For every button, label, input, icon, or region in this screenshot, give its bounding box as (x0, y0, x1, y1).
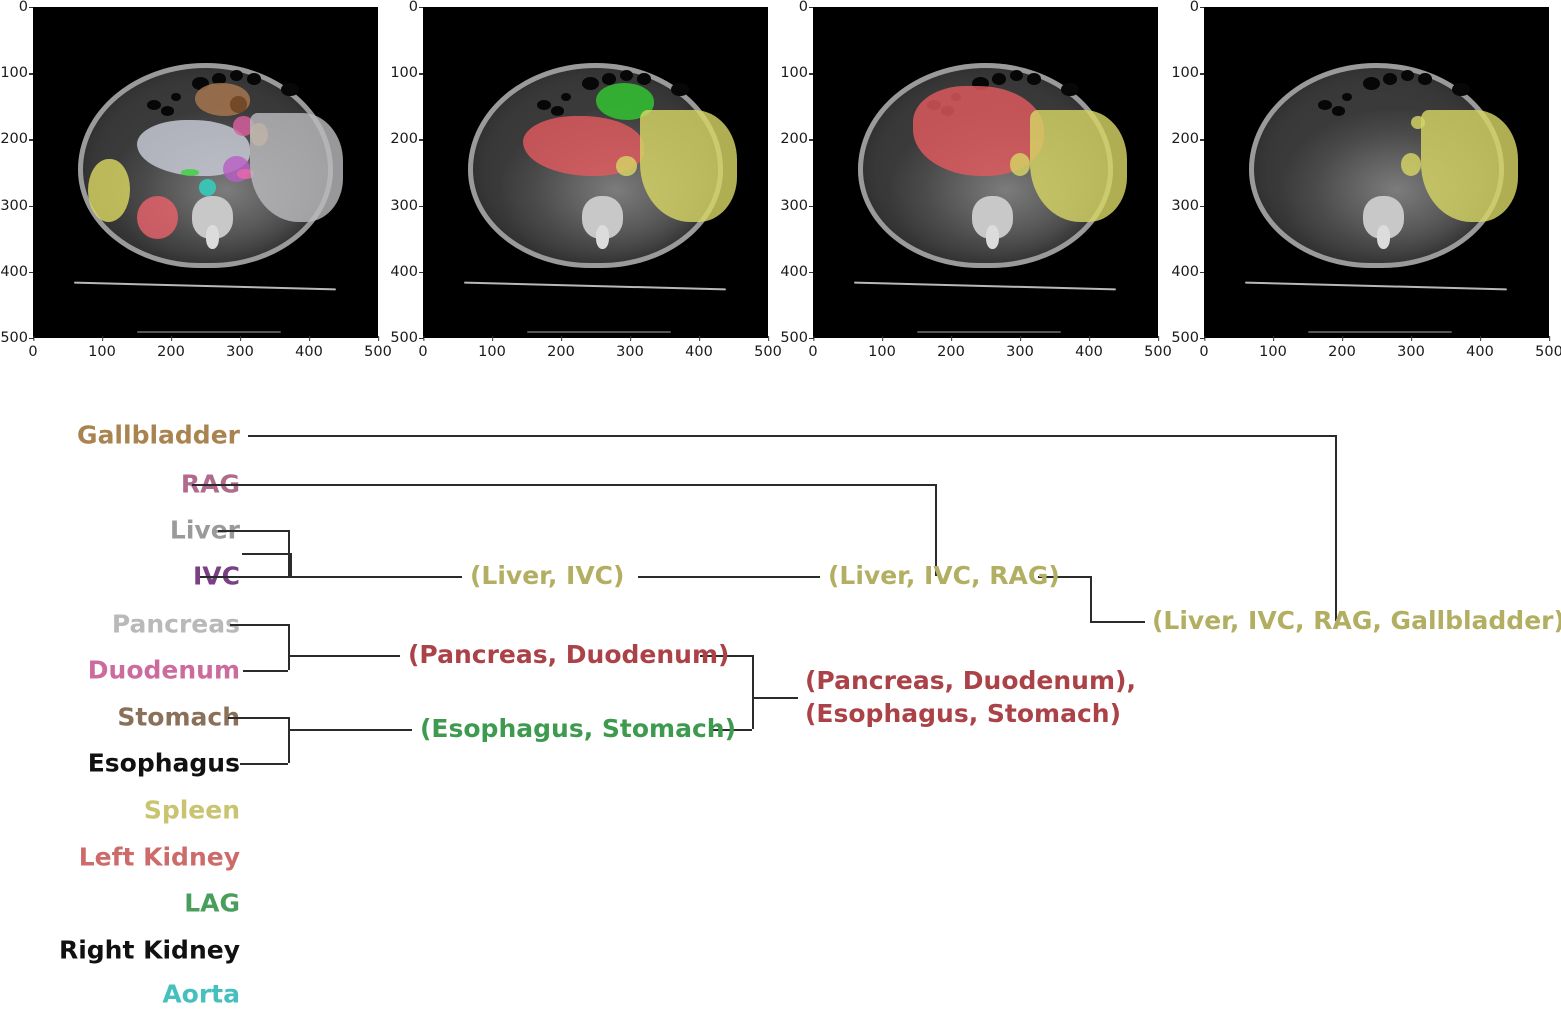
spinous-process (986, 225, 1000, 248)
group-label-g-pan-duo: (Pancreas, Duodenum) (408, 640, 729, 671)
spinous-process (206, 225, 220, 248)
conn-liverivc-to-rag (638, 576, 820, 578)
x-tick-mark (1020, 336, 1021, 341)
y-tick-label: 100 (780, 65, 808, 81)
y-tick-label: 400 (0, 264, 28, 280)
couch-line (1245, 282, 1507, 290)
overlay-group-liver-ivc (640, 110, 737, 223)
x-tick-mark (378, 336, 379, 341)
dendrogram-leaf-labels: GallbladderRAGLiverIVCPancreasDuodenumSt… (0, 400, 240, 1014)
y-tick-label: 100 (1171, 65, 1199, 81)
conn-eso-sto-vert (288, 717, 290, 763)
y-tick-label: 500 (0, 330, 28, 346)
conn-esophagus-stub (240, 763, 288, 765)
x-tick-mark (492, 336, 493, 341)
conn-to-pd-es-label (752, 697, 798, 699)
x-tick-mark (1411, 336, 1412, 341)
leaf-label-aorta: Aorta (162, 980, 240, 1009)
x-tick-mark (1158, 336, 1159, 341)
x-tick-mark (1480, 336, 1481, 341)
table-line (527, 331, 672, 333)
x-tick-label: 100 (1259, 344, 1287, 360)
group-label-g-eso-sto: (Esophagus, Stomach) (420, 714, 736, 745)
table-line (1308, 331, 1453, 333)
x-tick-mark (882, 336, 883, 341)
bowel-gas (1318, 100, 1332, 110)
y-tick-label: 300 (780, 198, 808, 214)
x-tick-mark (1549, 336, 1550, 341)
x-tick-label: 400 (685, 344, 713, 360)
x-tick-label: 200 (937, 344, 965, 360)
y-tick-label: 200 (0, 131, 28, 147)
x-tick-mark (561, 336, 562, 341)
x-tick-label: 500 (1144, 344, 1172, 360)
group-label-g-liver-ivc-rag: (Liver, IVC, RAG) (828, 561, 1060, 592)
ct-image (33, 7, 378, 338)
couch-line (854, 282, 1116, 290)
x-tick-label: 100 (868, 344, 896, 360)
leaf-label-left-kidney: Left Kidney (79, 843, 240, 872)
bowel-gas (992, 73, 1006, 85)
x-tick-mark (33, 336, 34, 341)
x-tick-mark (1342, 336, 1343, 341)
group-label-g-pd-es-line1: (Pancreas, Duodenum), (805, 666, 1136, 697)
leaf-label-spleen: Spleen (144, 796, 240, 825)
x-tick-label: 0 (418, 344, 427, 360)
y-axis: 0100200300400500 (1171, 7, 1199, 338)
bowel-gas (281, 83, 298, 96)
bowel-gas (1383, 73, 1397, 85)
conn-rag-stub (192, 484, 935, 486)
y-tick-label: 500 (390, 330, 418, 346)
bowel-gas (1418, 73, 1432, 85)
x-tick-mark (171, 336, 172, 341)
conn-gallbladder-vert (1335, 435, 1337, 621)
leaf-label-gallbladder: Gallbladder (77, 421, 240, 450)
spinous-process (596, 225, 610, 248)
panel-4-final-merge: 01002003004005000100200300400500 (1171, 0, 1561, 372)
x-tick-mark (423, 336, 424, 341)
x-tick-label: 400 (1075, 344, 1103, 360)
panel-2-first-merge: 01002003004005000100200300400500 (390, 0, 780, 372)
x-tick-label: 0 (28, 344, 37, 360)
y-tick-label: 0 (1190, 0, 1199, 15)
x-tick-mark (102, 336, 103, 341)
conn-gallbladder-stub (248, 435, 1335, 437)
x-tick-label: 300 (616, 344, 644, 360)
x-tick-label: 500 (1535, 344, 1561, 360)
leaf-label-lag: LAG (184, 889, 240, 918)
overlay-spleen (88, 159, 129, 222)
y-axis: 0100200300400500 (0, 7, 28, 338)
conn-stomach-stub (228, 717, 288, 719)
conn-liver-ivc-join (242, 553, 290, 555)
ct-image (813, 7, 1158, 338)
merge-dendrogram: GallbladderRAGLiverIVCPancreasDuodenumSt… (0, 400, 1561, 1014)
y-tick-label: 500 (780, 330, 808, 346)
overlay-liver (250, 113, 343, 222)
x-tick-label: 100 (88, 344, 116, 360)
y-tick-label: 400 (780, 264, 808, 280)
group-label-g-pd-es-line2: (Esophagus, Stomach) (805, 699, 1121, 730)
spinous-process (1377, 225, 1391, 248)
x-tick-mark (309, 336, 310, 341)
y-tick-label: 300 (1171, 198, 1199, 214)
y-tick-label: 100 (390, 65, 418, 81)
conn-to-liver-ivc-label (290, 576, 462, 578)
y-tick-label: 0 (799, 0, 808, 15)
x-tick-label: 400 (295, 344, 323, 360)
y-tick-label: 0 (19, 0, 28, 15)
conn-liver-ivc-step (290, 553, 292, 576)
table-line (137, 331, 282, 333)
panel-1-all-organs: 01002003004005000100200300400500 (0, 0, 390, 372)
bowel-gas (247, 73, 261, 85)
y-tick-label: 200 (1171, 131, 1199, 147)
overlay-group-liver-ivc-b (616, 156, 637, 176)
x-tick-label: 500 (364, 344, 392, 360)
table-line (917, 331, 1062, 333)
ct-image (423, 7, 768, 338)
y-tick-label: 100 (0, 65, 28, 81)
overlay-group-liver-ivc-rag-b (1010, 153, 1031, 176)
overlay-group-final (1421, 110, 1518, 223)
conn-pancreas-stub (230, 624, 288, 626)
x-tick-label: 300 (1006, 344, 1034, 360)
bowel-gas (537, 100, 551, 110)
group-label-g-final: (Liver, IVC, RAG, Gallbladder) (1152, 606, 1561, 637)
bowel-gas (582, 77, 599, 90)
group-label-g-liver-ivc: (Liver, IVC) (470, 561, 624, 592)
conn-pan-duo-vert (288, 624, 290, 670)
y-axis: 0100200300400500 (780, 7, 808, 338)
x-tick-mark (768, 336, 769, 341)
bowel-gas (1027, 73, 1041, 85)
x-tick-mark (240, 336, 241, 341)
x-tick-label: 400 (1466, 344, 1494, 360)
bowel-gas (1061, 83, 1078, 96)
x-tick-label: 100 (478, 344, 506, 360)
couch-line (74, 282, 336, 290)
y-tick-label: 400 (390, 264, 418, 280)
y-tick-label: 0 (409, 0, 418, 15)
y-axis: 0100200300400500 (390, 7, 418, 338)
bowel-gas (671, 83, 688, 96)
ct-image (1204, 7, 1549, 338)
conn-duodenum-stub (243, 670, 288, 672)
x-tick-label: 300 (226, 344, 254, 360)
y-tick-label: 300 (390, 198, 418, 214)
leaf-label-pancreas: Pancreas (112, 610, 240, 639)
overlay-lag (181, 169, 198, 176)
couch-line (464, 282, 726, 290)
x-tick-mark (1204, 336, 1205, 341)
x-tick-mark (813, 336, 814, 341)
bowel-gas (637, 73, 651, 85)
overlay-group-final-b (1401, 153, 1422, 176)
x-tick-label: 500 (754, 344, 782, 360)
overlay-aorta (199, 179, 216, 196)
conn-livrivcrag-step (1090, 576, 1092, 621)
y-tick-label: 400 (1171, 264, 1199, 280)
x-tick-mark (1089, 336, 1090, 341)
overlay-esophagus (230, 96, 247, 113)
conn-ivc-stub (200, 576, 290, 578)
x-tick-label: 200 (547, 344, 575, 360)
leaf-label-duodenum: Duodenum (88, 656, 240, 685)
leaf-label-right-kidney: Right Kidney (59, 936, 240, 965)
y-tick-label: 300 (0, 198, 28, 214)
leaf-label-esophagus: Esophagus (88, 749, 240, 778)
leaf-label-stomach: Stomach (117, 703, 240, 732)
bowel-gas (1452, 83, 1469, 96)
x-tick-label: 300 (1397, 344, 1425, 360)
overlay-left-kidney (137, 196, 178, 239)
conn-liver-stub (218, 530, 290, 532)
conn-to-eso-sto-label (288, 729, 412, 731)
x-tick-mark (1273, 336, 1274, 341)
x-tick-mark (951, 336, 952, 341)
x-tick-label: 0 (1199, 344, 1208, 360)
conn-to-final-label (1090, 621, 1145, 623)
overlay-group-liver-ivc-rag (1030, 110, 1127, 223)
conn-pd-es-vert (752, 655, 754, 729)
bowel-gas (1363, 77, 1380, 90)
y-tick-label: 500 (1171, 330, 1199, 346)
x-tick-label: 0 (808, 344, 817, 360)
x-tick-label: 200 (1328, 344, 1356, 360)
y-tick-label: 200 (780, 131, 808, 147)
conn-to-pan-duo-label (288, 655, 400, 657)
x-tick-mark (699, 336, 700, 341)
ct-panel-row: 0100200300400500010020030040050001002003… (0, 0, 1561, 372)
bowel-gas (147, 100, 161, 110)
x-tick-mark (630, 336, 631, 341)
panel-3-second-merge: 01002003004005000100200300400500 (780, 0, 1170, 372)
y-tick-label: 200 (390, 131, 418, 147)
x-tick-label: 200 (157, 344, 185, 360)
